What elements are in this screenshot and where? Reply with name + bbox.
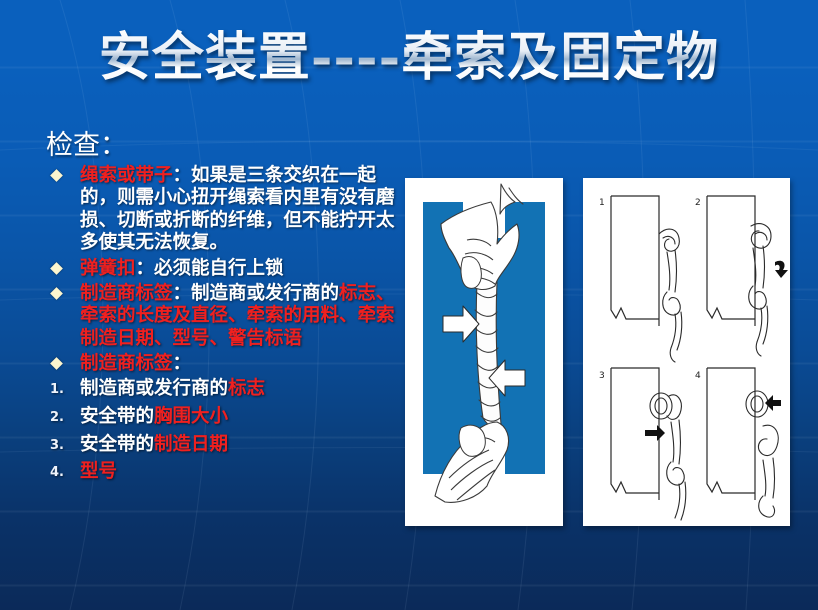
svg-text:1: 1 [599,198,605,208]
bullet-run: 制造商标签 [80,283,173,304]
bullet-item: 制造商标签： [38,353,398,375]
bullet-item: 弹簧扣：必须能自行上锁 [38,258,398,280]
bullet-item: 制造商标签：制造商或发行商的标志、牵索的长度及直径、牵索的用料、牵索制造日期、型… [38,283,398,350]
rope-tie-off-four-step-illustration: 1 2 [583,178,790,526]
numbered-run: 标志 [228,378,265,399]
numbered-list: 1. 制造商或发行商的标志 2. 安全带的胸围大小 3. 安全带的制造日期 4.… [38,378,398,483]
presentation-slide: 安全装置----牵索及固定物 检查： 绳索或带子：如果是三条交织在一起的，则需小… [0,0,818,610]
bullet-run: ：制造商或发行商的 [173,283,340,304]
slide-title: 安全装置----牵索及固定物 [0,28,818,88]
numbered-run: 安全带的 [80,406,154,427]
numbered-run: 制造商或发行商的 [80,378,228,399]
slide-body: 检查： 绳索或带子：如果是三条交织在一起的，则需小心扭开绳索看内里有没有磨损、切… [38,132,398,489]
bullet-run: 绳索或带子 [80,165,173,186]
bullet-list: 绳索或带子：如果是三条交织在一起的，则需小心扭开绳索看内里有没有磨损、切断或折断… [38,165,398,375]
list-number: 4. [50,465,64,481]
diamond-bullet-icon [50,262,63,275]
numbered-run: 型号 [80,461,117,482]
bullet-run: 弹簧扣 [80,258,136,279]
diamond-bullet-icon [50,169,63,182]
numbered-item: 2. 安全带的胸围大小 [38,406,398,429]
hands-untwisting-rope-illustration [405,178,563,526]
numbered-run: 安全带的 [80,434,154,455]
list-number: 1. [50,382,64,398]
svg-text:2: 2 [695,198,701,208]
numbered-item: 4. 型号 [38,461,398,484]
numbered-item: 3. 安全带的制造日期 [38,434,398,457]
numbered-run: 胸围大小 [154,406,228,427]
list-number: 2. [50,410,64,426]
list-number: 3. [50,438,64,454]
diamond-bullet-icon [50,287,63,300]
diamond-bullet-icon [50,357,63,370]
numbered-item: 1. 制造商或发行商的标志 [38,378,398,401]
svg-text:4: 4 [695,371,701,381]
body-heading: 检查： [46,132,398,159]
bullet-item: 绳索或带子：如果是三条交织在一起的，则需小心扭开绳索看内里有没有磨损、切断或折断… [38,165,398,255]
bullet-run: 制造商标签 [80,353,173,374]
bullet-run: ： [173,353,192,374]
svg-text:3: 3 [599,371,605,381]
bullet-run: ：必须能自行上锁 [136,258,284,279]
numbered-run: 制造日期 [154,434,228,455]
